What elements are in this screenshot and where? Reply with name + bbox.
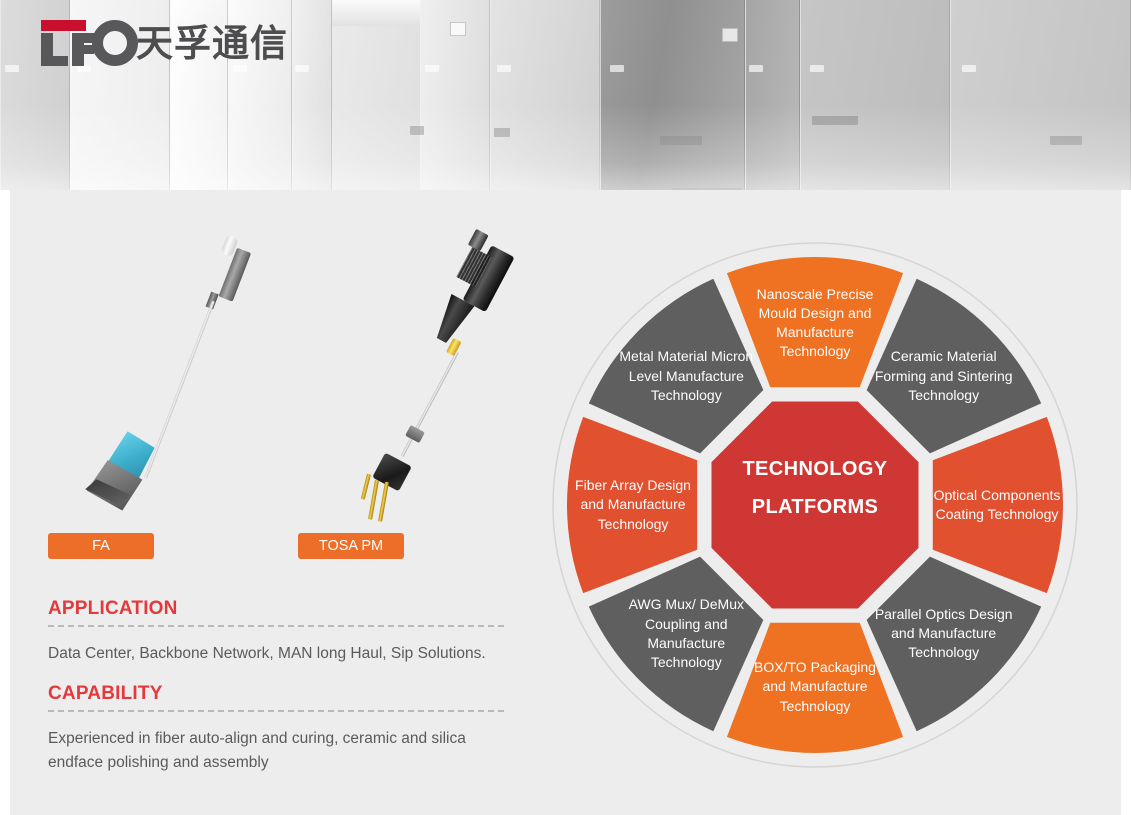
tfc-logo-icon — [30, 18, 130, 66]
technology-platforms-wheel: TECHNOLOGY PLATFORMS Nanoscale Precise M… — [550, 240, 1080, 770]
wheel-segment[interactable] — [567, 417, 697, 593]
wheel-center-line1: TECHNOLOGY — [710, 450, 920, 488]
application-divider — [48, 625, 504, 627]
application-heading: APPLICATION — [48, 598, 178, 620]
wheel-segment[interactable] — [867, 557, 1042, 732]
wheel-segment[interactable] — [867, 279, 1042, 454]
wheel-segment[interactable] — [727, 257, 903, 387]
capability-heading: CAPABILITY — [48, 683, 163, 705]
product-image-tosa-pm — [355, 228, 545, 518]
application-body: Data Center, Backbone Network, MAN long … — [48, 642, 518, 666]
capability-divider — [48, 710, 504, 712]
wheel-center-line2: PLATFORMS — [710, 488, 920, 526]
brand-logo-chinese: 天孚通信 — [136, 25, 288, 66]
wheel-segment[interactable] — [727, 623, 903, 753]
wheel-segment[interactable] — [933, 417, 1063, 593]
page-root: 天孚通信 — [0, 0, 1131, 815]
product-tag-fa[interactable]: FA — [48, 533, 154, 559]
wheel-segment[interactable] — [589, 279, 764, 454]
content-panel: FA TOSA PM APPLICATION Data Center, Back… — [10, 190, 1121, 815]
brand-logo[interactable]: 天孚通信 — [30, 18, 288, 66]
wheel-center-label: TECHNOLOGY PLATFORMS — [710, 450, 920, 526]
wheel-segment[interactable] — [589, 557, 764, 732]
product-image-fa — [80, 235, 290, 515]
product-tag-tosa-pm[interactable]: TOSA PM — [298, 533, 404, 559]
capability-body: Experienced in fiber auto-align and curi… — [48, 727, 518, 774]
